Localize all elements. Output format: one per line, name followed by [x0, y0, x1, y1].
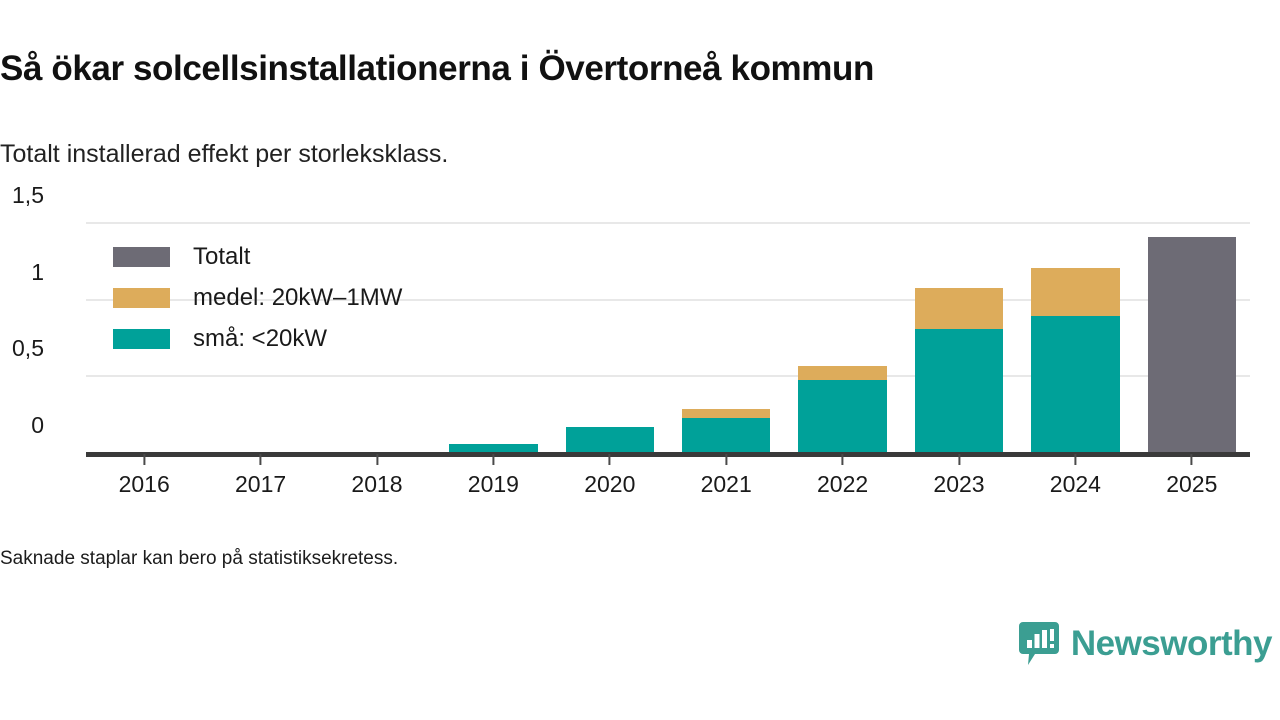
bar-group-2019[interactable] [449, 222, 537, 452]
chart-page: Så ökar solcellsinstallationerna i Övert… [0, 0, 1280, 720]
bar-segment[interactable] [566, 427, 654, 452]
x-axis-tick-label: 2021 [701, 471, 752, 498]
x-axis-tick-label: 2016 [119, 471, 170, 498]
tick-mark [1074, 454, 1076, 465]
x-axis-tick-label: 2022 [817, 471, 868, 498]
y-axis-tick-label: 0,5 [0, 335, 44, 362]
bar-segment[interactable] [449, 444, 537, 452]
legend-item-total[interactable]: Totalt [113, 236, 402, 277]
tick-mark [609, 454, 611, 465]
bar-group-2023[interactable] [915, 222, 1003, 452]
bar-group-2022[interactable] [798, 222, 886, 452]
logo-wordmark: Newsworthy [1071, 626, 1272, 662]
x-axis-tick-2018: 2018 [351, 454, 402, 498]
bar-segment[interactable] [682, 418, 770, 452]
x-axis-tick-2020: 2020 [584, 454, 635, 498]
tick-mark [492, 454, 494, 465]
bar-segment[interactable] [915, 288, 1003, 329]
x-axis-tick-2021: 2021 [701, 454, 752, 498]
bar-segment[interactable] [1031, 268, 1119, 316]
x-axis-tick-label: 2018 [351, 471, 402, 498]
bar-segment[interactable] [682, 409, 770, 418]
legend-item-small[interactable]: små: <20kW [113, 318, 402, 359]
tick-mark [958, 454, 960, 465]
tick-mark [842, 454, 844, 465]
newsworthy-bars-bubble-icon [1019, 622, 1059, 666]
legend-swatch-icon [113, 329, 170, 349]
x-axis-tick-2024: 2024 [1050, 454, 1101, 498]
bar-segment[interactable] [1031, 316, 1119, 452]
x-axis: 2016201720182019202020212022202320242025 [86, 454, 1250, 510]
bar-segment[interactable] [915, 329, 1003, 452]
x-axis-tick-label: 2020 [584, 471, 635, 498]
bar-group-2021[interactable] [682, 222, 770, 452]
y-axis-tick-label: 1,5 [0, 182, 44, 209]
legend-item-label: medel: 20kW–1MW [193, 284, 402, 312]
chart-legend: Totaltmedel: 20kW–1MWsmå: <20kW [113, 236, 402, 359]
bar-group-2020[interactable] [566, 222, 654, 452]
newsworthy-logo[interactable]: Newsworthy [1019, 622, 1272, 666]
x-axis-tick-2017: 2017 [235, 454, 286, 498]
x-axis-tick-label: 2019 [468, 471, 519, 498]
legend-swatch-icon [113, 288, 170, 308]
bar-group-2024[interactable] [1031, 222, 1119, 452]
bar-segment[interactable] [798, 366, 886, 380]
bar-segment[interactable] [798, 380, 886, 452]
x-axis-tick-2023: 2023 [933, 454, 984, 498]
tick-mark [376, 454, 378, 465]
footnote: Saknade staplar kan bero på statistiksek… [0, 548, 398, 570]
tick-mark [725, 454, 727, 465]
y-axis-tick-label: 0 [0, 412, 44, 439]
x-axis-tick-2016: 2016 [119, 454, 170, 498]
legend-swatch-icon [113, 247, 170, 267]
x-axis-tick-2019: 2019 [468, 454, 519, 498]
tick-mark [1191, 454, 1193, 465]
legend-item-medium[interactable]: medel: 20kW–1MW [113, 277, 402, 318]
x-axis-tick-label: 2017 [235, 471, 286, 498]
x-axis-tick-label: 2024 [1050, 471, 1101, 498]
x-axis-tick-label: 2025 [1166, 471, 1217, 498]
x-axis-tick-label: 2023 [933, 471, 984, 498]
tick-mark [143, 454, 145, 465]
tick-mark [260, 454, 262, 465]
chart-subtitle: Totalt installerad effekt per storlekskl… [0, 138, 448, 170]
x-axis-tick-2022: 2022 [817, 454, 868, 498]
bar-group-2025[interactable] [1148, 222, 1236, 452]
legend-item-label: små: <20kW [193, 325, 327, 353]
bar-segment[interactable] [1148, 237, 1236, 452]
x-axis-tick-2025: 2025 [1166, 454, 1217, 498]
page-title: Så ökar solcellsinstallationerna i Övert… [0, 48, 1270, 90]
legend-item-label: Totalt [193, 243, 250, 271]
y-axis-tick-label: 1 [0, 259, 44, 286]
